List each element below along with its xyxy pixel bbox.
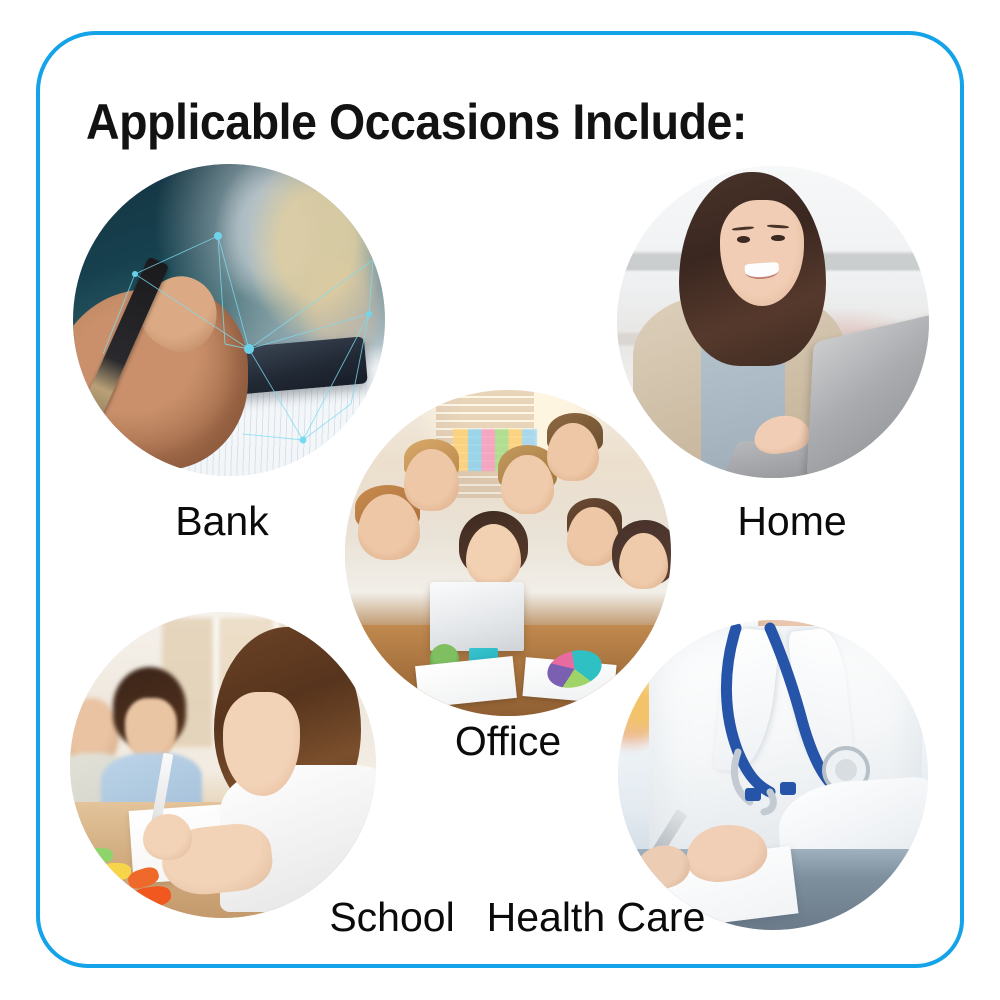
occasion-label-bank: Bank: [175, 498, 268, 545]
office-person7-face: [619, 533, 668, 588]
occasion-label-health-care: Health Care: [487, 894, 706, 941]
office-laptop: [430, 582, 525, 650]
home-eye-left: [737, 236, 750, 243]
school-girl-hand: [143, 814, 192, 860]
school-photo-circle: [70, 612, 376, 918]
infographic-page: Applicable Occasions Include: Bank: [0, 0, 1000, 1000]
page-title: Applicable Occasions Include:: [86, 93, 747, 151]
school-letter-yellow: [101, 863, 132, 880]
occasion-label-office: Office: [455, 718, 561, 765]
home-eye-right: [771, 235, 784, 242]
health-care-photo-circle: [618, 620, 928, 930]
office-person3-face: [501, 455, 553, 514]
occasion-label-school: School: [329, 894, 454, 941]
school-letter-green: [85, 848, 113, 863]
office-person6-face: [567, 507, 619, 566]
bank-photo-circle: [73, 164, 385, 476]
school-girl-face: [223, 692, 300, 796]
occasion-label-home: Home: [737, 498, 846, 545]
